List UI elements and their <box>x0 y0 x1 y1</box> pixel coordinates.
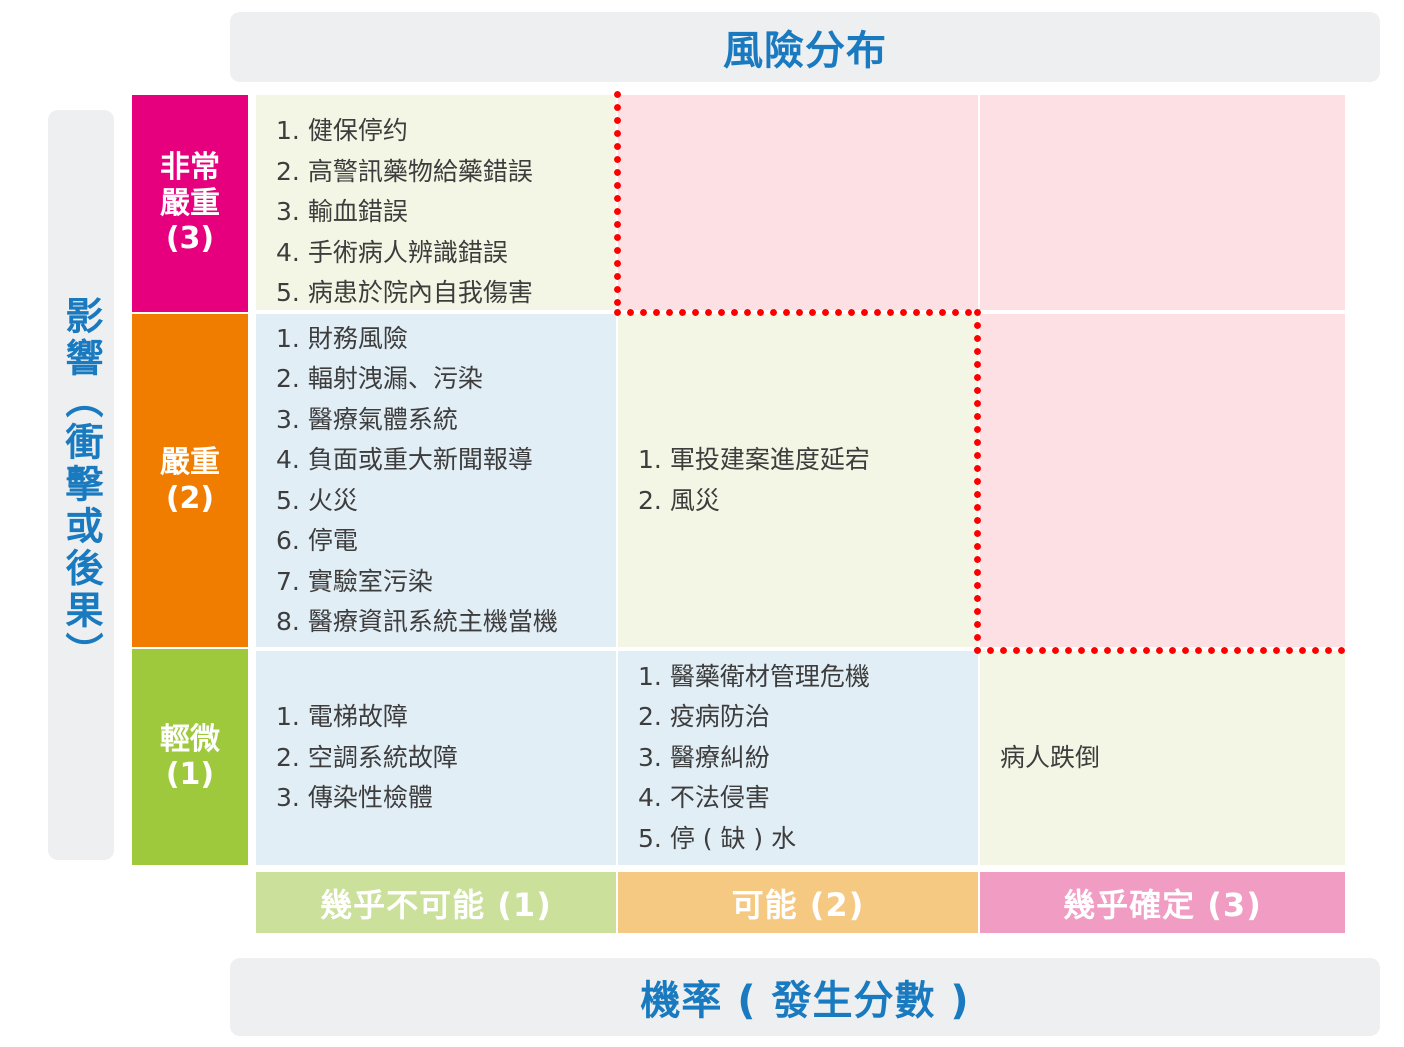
severity-chip-line1: 嚴重 <box>160 445 220 480</box>
threshold-line-segment-horizontal-bottom <box>974 647 1349 654</box>
likelihood-header-label: 幾乎確定 (3) <box>1063 880 1262 926</box>
matrix-cell-list-item: 財務風險 <box>276 319 596 360</box>
threshold-line-segment-horizontal-middle <box>614 309 980 316</box>
matrix-cell-list-item: 醫療氣體系統 <box>276 400 596 441</box>
matrix-cell-list-item: 高警訊藥物給藥錯誤 <box>276 152 596 193</box>
matrix-cell-s1-l3[interactable]: 病人跌倒 <box>980 651 1345 865</box>
matrix-cell-list-item: 軍投建案進度延宕 <box>638 440 958 481</box>
matrix-cell-list-item: 健保停约 <box>276 111 596 152</box>
matrix-cell-list-item: 風災 <box>638 481 958 522</box>
matrix-cell-list-item: 輻射洩漏、污染 <box>276 359 596 400</box>
matrix-cell-list-item: 輸血錯誤 <box>276 192 596 233</box>
matrix-cell-list-item: 疫病防治 <box>638 697 958 738</box>
matrix-cell-s3-l1[interactable]: 健保停约高警訊藥物給藥錯誤輸血錯誤手術病人辨識錯誤病患於院內自我傷害 <box>256 95 616 310</box>
severity-chip-line1: 非常 <box>160 150 220 185</box>
matrix-cell-list-item: 傳染性檢體 <box>276 778 596 819</box>
matrix-cell-list-item: 負面或重大新聞報導 <box>276 440 596 481</box>
severity-chip-severe: 嚴重 (2) <box>132 314 248 647</box>
likelihood-header-label: 幾乎不可能 (1) <box>320 880 552 926</box>
matrix-cell-list-item: 手術病人辨識錯誤 <box>276 233 596 274</box>
y-axis-label: 影響（衝擊或後果） <box>48 110 114 860</box>
matrix-cell-s2-l1[interactable]: 財務風險輻射洩漏、污染醫療氣體系統負面或重大新聞報導火災停電實驗室污染醫療資訊系… <box>256 314 616 647</box>
matrix-cell-s1-l1[interactable]: 電梯故障空調系統故障傳染性檢體 <box>256 651 616 865</box>
matrix-cell-list: 醫藥衛材管理危機疫病防治醫療糾紛不法侵害停 ( 缺 ) 水 <box>638 657 958 860</box>
threshold-line-segment-vertical-top <box>614 91 621 313</box>
matrix-cell-list-item: 醫療糾紛 <box>638 738 958 779</box>
matrix-cell-s1-l2[interactable]: 醫藥衛材管理危機疫病防治醫療糾紛不法侵害停 ( 缺 ) 水 <box>618 651 978 865</box>
risk-matrix: 非常 嚴重 (3) 嚴重 (2) 輕微 (1) 健保停约高警訊藥物給藥錯誤輸血錯… <box>132 95 1345 933</box>
matrix-cell-list-item: 病患於院內自我傷害 <box>276 273 596 310</box>
severity-chip-score: (1) <box>166 757 214 792</box>
likelihood-header-label: 可能 (2) <box>732 880 865 926</box>
matrix-cell-list-item: 醫療資訊系統主機當機 <box>276 602 596 643</box>
matrix-cell-list-item: 停電 <box>276 521 596 562</box>
matrix-cell-s2-l2[interactable]: 軍投建案進度延宕風災 <box>618 314 978 647</box>
matrix-cell-list: 軍投建案進度延宕風災 <box>638 440 958 521</box>
matrix-cell-list-item: 停 ( 缺 ) 水 <box>638 819 958 860</box>
matrix-cell-list: 健保停约高警訊藥物給藥錯誤輸血錯誤手術病人辨識錯誤病患於院內自我傷害 <box>276 111 596 310</box>
severity-chip-very-severe: 非常 嚴重 (3) <box>132 95 248 312</box>
matrix-cell-s3-l2[interactable] <box>618 95 978 310</box>
severity-chip-line1: 輕微 <box>160 722 220 757</box>
matrix-cell-s3-l3[interactable] <box>980 95 1345 310</box>
matrix-cell-list: 電梯故障空調系統故障傳染性檢體 <box>276 697 596 819</box>
matrix-cell-list-item: 不法侵害 <box>638 778 958 819</box>
matrix-cell-list-item: 電梯故障 <box>276 697 596 738</box>
matrix-cell-list-item: 實驗室污染 <box>276 562 596 603</box>
likelihood-header-possible: 可能 (2) <box>618 872 978 933</box>
x-axis-title-bar: 機率 ( 發生分數 ) <box>230 958 1380 1036</box>
matrix-cell-list-item: 醫藥衛材管理危機 <box>638 657 958 698</box>
x-axis-title: 機率 ( 發生分數 ) <box>640 968 969 1026</box>
page-title: 風險分布 <box>723 18 887 76</box>
likelihood-header-almost-certain: 幾乎確定 (3) <box>980 872 1345 933</box>
severity-chip-score: (2) <box>166 481 214 516</box>
severity-chip-score: (3) <box>166 221 214 256</box>
matrix-cell-list-item: 火災 <box>276 481 596 522</box>
severity-chip-minor: 輕微 (1) <box>132 649 248 865</box>
likelihood-header-almost-impossible: 幾乎不可能 (1) <box>256 872 616 933</box>
severity-chip-line2: 嚴重 <box>160 186 220 221</box>
threshold-line-segment-vertical-middle <box>974 309 981 651</box>
page-title-bar: 風險分布 <box>230 12 1380 82</box>
matrix-cell-s2-l3[interactable] <box>980 314 1345 647</box>
matrix-cell-list-item: 空調系統故障 <box>276 738 596 779</box>
y-axis-label-text: 影響（衝擊或後果） <box>62 296 100 674</box>
matrix-cell-list: 財務風險輻射洩漏、污染醫療氣體系統負面或重大新聞報導火災停電實驗室污染醫療資訊系… <box>276 319 596 643</box>
matrix-cell-text: 病人跌倒 <box>1000 738 1325 779</box>
